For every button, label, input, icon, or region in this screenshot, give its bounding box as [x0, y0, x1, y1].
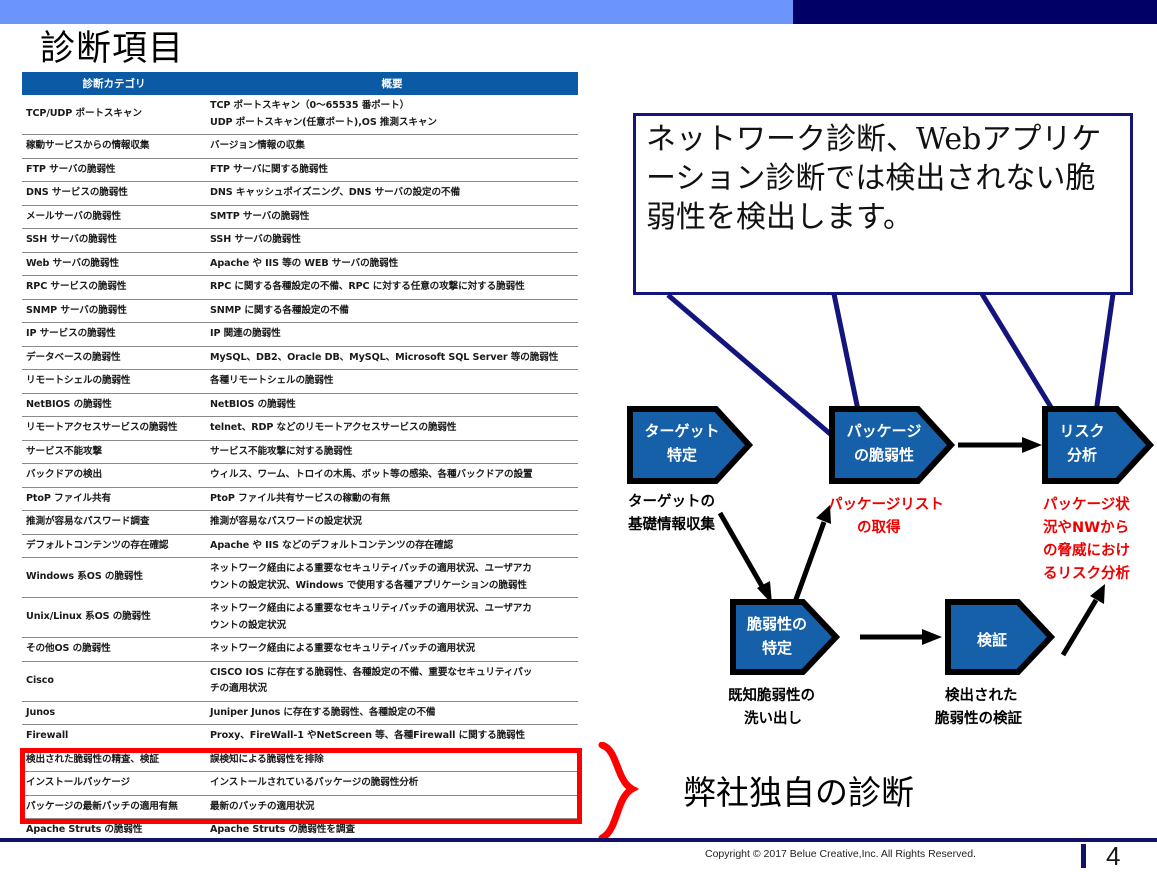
- cell-category: 稼動サービスからの情報収集: [22, 135, 206, 159]
- caption-line1: パッケージリスト: [828, 496, 944, 513]
- caption-line2: 脆弱性の検証: [935, 709, 1022, 727]
- column-header-summary: 概要: [206, 72, 578, 95]
- flow-arrow-vuln-to-verify: [860, 629, 942, 645]
- chevron-label-line1: 脆弱性の: [747, 615, 807, 633]
- cell-summary: PtoP ファイル共有サービスの稼動の有無: [206, 487, 578, 511]
- cell-category: その他OS の脆弱性: [22, 638, 206, 662]
- cell-summary: 各種リモートシェルの脆弱性: [206, 370, 578, 394]
- table-row: サービス不能攻撃サービス不能攻撃に対する脆弱性: [22, 440, 578, 464]
- chevron-label-line2: 分析: [1067, 446, 1097, 464]
- diagnosis-items-table: 診断カテゴリ 概要 TCP/UDP ポートスキャンTCP ポートスキャン（0～6…: [22, 72, 578, 842]
- footer-rule: [0, 838, 1157, 842]
- chevron-step-vuln-identification[interactable]: 脆弱性の 特定 既知脆弱性の 洗い出し: [728, 602, 836, 727]
- chevron-label-line1: リスク: [1059, 422, 1104, 440]
- cell-category: Junos: [22, 701, 206, 725]
- caption-line1: 検出された: [945, 686, 1018, 704]
- caption-line3: の脅威におけ: [1043, 541, 1130, 559]
- cell-summary: CISCO IOS に存在する脆弱性、各種設定の不備、重要なセキュリティパッチの…: [206, 661, 578, 701]
- caption-line4: るリスク分析: [1043, 564, 1130, 582]
- table-row: メールサーバの脆弱性SMTP サーバの脆弱性: [22, 205, 578, 229]
- cell-summary: Apache や IIS 等の WEB サーバの脆弱性: [206, 252, 578, 276]
- table-row: Unix/Linux 系OS の脆弱性ネットワーク経由による重要なセキュリティパ…: [22, 598, 578, 638]
- cell-category: Web サーバの脆弱性: [22, 252, 206, 276]
- table-row: NetBIOS の脆弱性NetBIOS の脆弱性: [22, 393, 578, 417]
- chevron-step-target[interactable]: ターゲット 特定 ターゲットの 基礎情報収集: [627, 409, 749, 533]
- caption-line2: 洗い出し: [744, 709, 802, 727]
- cell-summary: telnet、RDP などのリモートアクセスサービスの脆弱性: [206, 417, 578, 441]
- process-flow-diagram: ターゲット 特定 ターゲットの 基礎情報収集 パッケージ の脆弱性 パッケージリ…: [620, 270, 1157, 740]
- table-row: Web サーバの脆弱性Apache や IIS 等の WEB サーバの脆弱性: [22, 252, 578, 276]
- cell-category: DNS サービスの脆弱性: [22, 182, 206, 206]
- cell-summary: NetBIOS の脆弱性: [206, 393, 578, 417]
- cell-summary: SSH サーバの脆弱性: [206, 229, 578, 253]
- cell-category: デフォルトコンテンツの存在確認: [22, 534, 206, 558]
- flow-arrow-target-to-vuln: [720, 513, 772, 604]
- table-row: デフォルトコンテンツの存在確認Apache や IIS などのデフォルトコンテン…: [22, 534, 578, 558]
- cell-summary: TCP ポートスキャン（0～65535 番ポート）UDP ポートスキャン(任意ポ…: [206, 95, 578, 135]
- table-row: バックドアの検出ウィルス、ワーム、トロイの木馬、ボット等の感染、各種バックドアの…: [22, 464, 578, 488]
- cell-summary: SMTP サーバの脆弱性: [206, 205, 578, 229]
- flow-arrow-verify-to-risk: [1063, 584, 1105, 655]
- cell-category: Windows 系OS の脆弱性: [22, 558, 206, 598]
- copyright-text: Copyright © 2017 Belue Creative,Inc. All…: [705, 848, 976, 860]
- cell-summary: 推測が容易なパスワードの設定状況: [206, 511, 578, 535]
- chevron-label-line1: ターゲット: [644, 422, 719, 440]
- cell-summary: IP 関連の脆弱性: [206, 323, 578, 347]
- cell-category: RPC サービスの脆弱性: [22, 276, 206, 300]
- cell-category: IP サービスの脆弱性: [22, 323, 206, 347]
- page-title: 診断項目: [40, 20, 184, 71]
- cell-category: NetBIOS の脆弱性: [22, 393, 206, 417]
- cell-category: SSH サーバの脆弱性: [22, 229, 206, 253]
- page-number: 4: [1106, 841, 1120, 872]
- chevron-step-risk-analysis[interactable]: リスク 分析 パッケージ状 況やNWから の脅威におけ るリスク分析: [1043, 409, 1150, 582]
- cell-summary: Apache や IIS などのデフォルトコンテンツの存在確認: [206, 534, 578, 558]
- chevron-step-verification[interactable]: 検証 検出された 脆弱性の検証: [935, 602, 1051, 727]
- cell-summary: FTP サーバに関する脆弱性: [206, 158, 578, 182]
- caption-line2: 況やNWから: [1043, 518, 1129, 536]
- cell-summary: DNS キャッシュポイズニング、DNS サーバの設定の不備: [206, 182, 578, 206]
- cell-summary: Juniper Junos に存在する脆弱性、各種設定の不備: [206, 701, 578, 725]
- cell-category: サービス不能攻撃: [22, 440, 206, 464]
- cell-summary: RPC に関する各種設定の不備、RPC に対する任意の攻撃に対する脆弱性: [206, 276, 578, 300]
- column-header-category: 診断カテゴリ: [22, 72, 206, 95]
- caption-line1: ターゲットの: [628, 492, 715, 510]
- chevron-label-line2: 特定: [762, 639, 792, 657]
- table-row: SSH サーバの脆弱性SSH サーバの脆弱性: [22, 229, 578, 253]
- cell-summary: ウィルス、ワーム、トロイの木馬、ボット等の感染、各種バックドアの設置: [206, 464, 578, 488]
- cell-category: FTP サーバの脆弱性: [22, 158, 206, 182]
- cell-summary: ネットワーク経由による重要なセキュリティパッチの適用状況、ユーザアカウントの設定…: [206, 558, 578, 598]
- chevron-label-line1: 検証: [977, 631, 1007, 649]
- cell-category: TCP/UDP ポートスキャン: [22, 95, 206, 135]
- callout-text: ネットワーク診断、Webアプリケーション診断では検出されない脆弱性を検出します。: [646, 120, 1124, 237]
- table-row: リモートシェルの脆弱性各種リモートシェルの脆弱性: [22, 370, 578, 394]
- table-row: その他OS の脆弱性ネットワーク経由による重要なセキュリティパッチの適用状況: [22, 638, 578, 662]
- table-row: SNMP サーバの脆弱性SNMP に関する各種設定の不備: [22, 299, 578, 323]
- chevron-label-line2: の脆弱性: [854, 446, 914, 464]
- caption-line1: パッケージ状: [1043, 495, 1130, 513]
- page-number-bar: [1081, 844, 1086, 868]
- table-row: 推測が容易なパスワード調査推測が容易なパスワードの設定状況: [22, 511, 578, 535]
- table-row: TCP/UDP ポートスキャンTCP ポートスキャン（0～65535 番ポート）…: [22, 95, 578, 135]
- callout-textbox: ネットワーク診断、Webアプリケーション診断では検出されない脆弱性を検出します。: [633, 113, 1133, 295]
- cell-category: 推測が容易なパスワード調査: [22, 511, 206, 535]
- table-row: CiscoCISCO IOS に存在する脆弱性、各種設定の不備、重要なセキュリテ…: [22, 661, 578, 701]
- cell-summary: サービス不能攻撃に対する脆弱性: [206, 440, 578, 464]
- top-bar-dark-segment: [793, 0, 1157, 24]
- table-row: DNS サービスの脆弱性DNS キャッシュポイズニング、DNS サーバの設定の不…: [22, 182, 578, 206]
- table-row: データベースの脆弱性MySQL、DB2、Oracle DB、MySQL、Micr…: [22, 346, 578, 370]
- chevron-step-package-vuln[interactable]: パッケージ の脆弱性 パッケージリスト の取得: [828, 409, 951, 536]
- table-row: リモートアクセスサービスの脆弱性telnet、RDP などのリモートアクセスサー…: [22, 417, 578, 441]
- chevron-label-line2: 特定: [667, 446, 697, 464]
- cell-category: Cisco: [22, 661, 206, 701]
- cell-category: PtoP ファイル共有: [22, 487, 206, 511]
- red-brace-icon: [596, 742, 666, 842]
- cell-summary: ネットワーク経由による重要なセキュリティパッチの適用状況: [206, 638, 578, 662]
- table-row: Windows 系OS の脆弱性ネットワーク経由による重要なセキュリティパッチの…: [22, 558, 578, 598]
- table-row: FTP サーバの脆弱性FTP サーバに関する脆弱性: [22, 158, 578, 182]
- cell-category: バックドアの検出: [22, 464, 206, 488]
- cell-category: Unix/Linux 系OS の脆弱性: [22, 598, 206, 638]
- table-row: 稼動サービスからの情報収集バージョン情報の収集: [22, 135, 578, 159]
- caption-line1: 既知脆弱性の: [728, 686, 815, 704]
- cell-summary: SNMP に関する各種設定の不備: [206, 299, 578, 323]
- table-header-row: 診断カテゴリ 概要: [22, 72, 578, 95]
- cell-summary: ネットワーク経由による重要なセキュリティパッチの適用状況、ユーザアカウントの設定…: [206, 598, 578, 638]
- bottom-caption: 弊社独自の診断: [683, 766, 914, 814]
- table-row: IP サービスの脆弱性IP 関連の脆弱性: [22, 323, 578, 347]
- caption-line2: 基礎情報収集: [627, 515, 715, 533]
- cell-summary: MySQL、DB2、Oracle DB、MySQL、Microsoft SQL …: [206, 346, 578, 370]
- table-row: RPC サービスの脆弱性RPC に関する各種設定の不備、RPC に対する任意の攻…: [22, 276, 578, 300]
- table-row: JunosJuniper Junos に存在する脆弱性、各種設定の不備: [22, 701, 578, 725]
- chevron-label-line1: パッケージ: [847, 422, 922, 440]
- cell-category: リモートアクセスサービスの脆弱性: [22, 417, 206, 441]
- table-row: PtoP ファイル共有PtoP ファイル共有サービスの稼動の有無: [22, 487, 578, 511]
- flow-arrow-vuln-to-package: [795, 505, 831, 602]
- cell-category: メールサーバの脆弱性: [22, 205, 206, 229]
- highlight-box-original-items: [20, 748, 582, 824]
- cell-category: データベースの脆弱性: [22, 346, 206, 370]
- cell-summary: バージョン情報の収集: [206, 135, 578, 159]
- caption-line2: の取得: [857, 518, 901, 536]
- flow-arrow-package-to-risk: [958, 437, 1042, 453]
- cell-category: リモートシェルの脆弱性: [22, 370, 206, 394]
- cell-category: SNMP サーバの脆弱性: [22, 299, 206, 323]
